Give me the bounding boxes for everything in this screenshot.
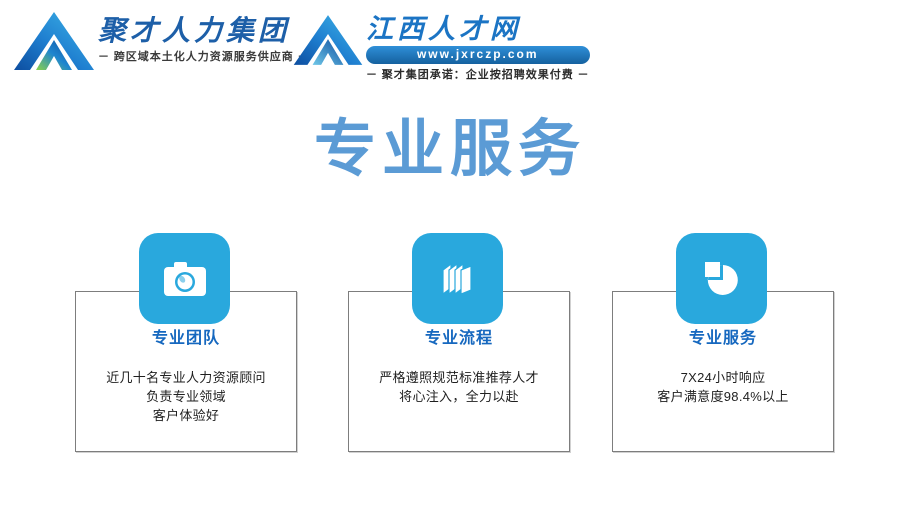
mountain-chevron-icon: [292, 12, 364, 73]
feature-card[interactable]: 专业流程 严格遵照规范标准推荐人才 将心注入，全力以赴: [339, 225, 575, 465]
card-content: 专业服务 7X24小时响应 客户满意度98.4%以上: [612, 291, 834, 452]
logo-wordmark: 江西人才网: [366, 16, 590, 43]
card-heading: 专业团队: [75, 329, 297, 348]
card-content: 专业团队 近几十名专业人力资源顾问 负责专业领域 客户体验好: [75, 291, 297, 452]
jiangxi-talent-net-logo[interactable]: 江西人才网 www.jxrczp.com － 聚才集团承诺：企业按招聘效果付费 …: [292, 12, 590, 82]
logo-website-url[interactable]: www.jxrczp.com: [366, 46, 590, 64]
logo-tagline: － 跨区域本土化人力资源服务供应商 －: [98, 51, 310, 64]
jucai-group-logo: 聚才人力集团 － 跨区域本土化人力资源服务供应商 －: [12, 10, 310, 77]
card-body-line: 客户满意度98.4%以上: [612, 388, 834, 407]
header-logo-bar: 聚才人力集团 － 跨区域本土化人力资源服务供应商 －: [0, 0, 900, 88]
feature-card[interactable]: 专业服务 7X24小时响应 客户满意度98.4%以上: [603, 225, 839, 465]
page-title: 专业服务: [0, 117, 900, 182]
card-heading: 专业服务: [612, 329, 834, 348]
card-body: 近几十名专业人力资源顾问 负责专业领域 客户体验好: [75, 369, 297, 426]
logo-tagline: － 聚才集团承诺：企业按招聘效果付费 －: [366, 69, 590, 82]
feature-cards: 专业团队 近几十名专业人力资源顾问 负责专业领域 客户体验好: [0, 225, 900, 465]
card-body-line: 客户体验好: [75, 407, 297, 426]
card-body-line: 7X24小时响应: [612, 369, 834, 388]
card-body: 严格遵照规范标准推荐人才 将心注入，全力以赴: [348, 369, 570, 407]
mountain-chevron-icon: [12, 10, 96, 77]
feature-card[interactable]: 专业团队 近几十名专业人力资源顾问 负责专业领域 客户体验好: [66, 225, 302, 465]
logo-wordmark: 聚才人力集团: [98, 18, 310, 46]
card-body-line: 将心注入，全力以赴: [348, 388, 570, 407]
card-body-line: 负责专业领域: [75, 388, 297, 407]
slide-canvas: 聚才人力集团 － 跨区域本土化人力资源服务供应商 －: [0, 0, 900, 506]
card-body-line: 严格遵照规范标准推荐人才: [348, 369, 570, 388]
card-body: 7X24小时响应 客户满意度98.4%以上: [612, 369, 834, 407]
card-body-line: 近几十名专业人力资源顾问: [75, 369, 297, 388]
card-heading: 专业流程: [348, 329, 570, 348]
card-content: 专业流程 严格遵照规范标准推荐人才 将心注入，全力以赴: [348, 291, 570, 452]
